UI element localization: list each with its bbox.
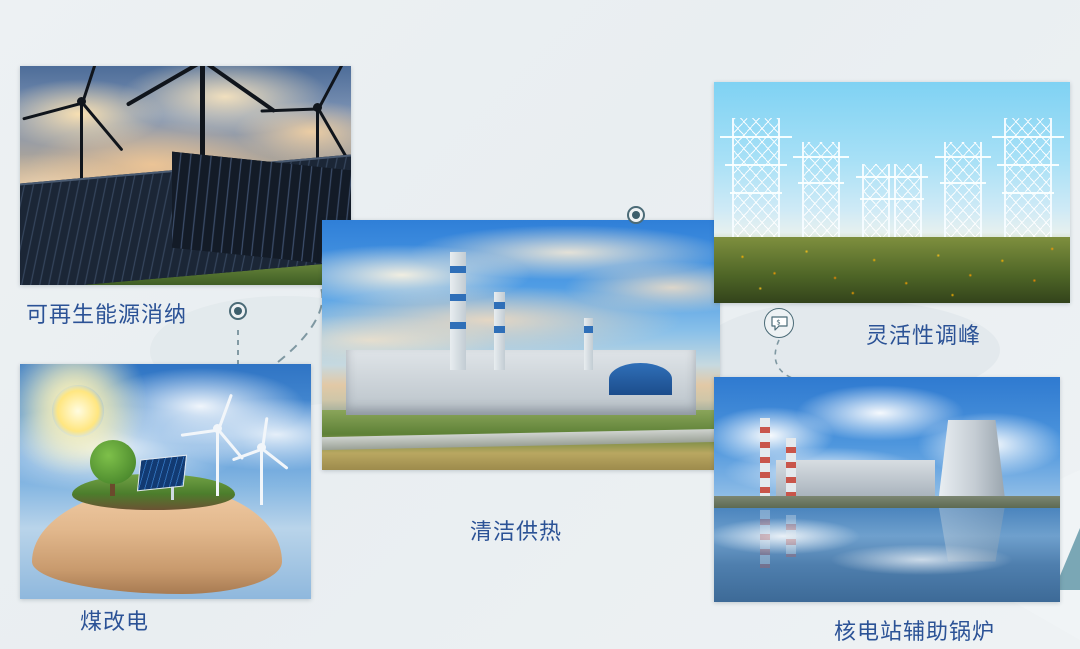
pylon-crossarm	[997, 164, 1059, 166]
transmission-pylon	[802, 142, 840, 246]
pylon-crossarm	[992, 136, 1064, 138]
chimney-stack	[584, 318, 593, 370]
plant-chimney-reflection	[786, 515, 796, 557]
photo-coal-to-electricity[interactable]	[20, 364, 311, 599]
plant-chimney-reflection	[760, 510, 770, 568]
photo-transmission-towers[interactable]	[714, 82, 1070, 303]
pylon-crossarm	[793, 156, 849, 158]
power-plant-dome	[609, 363, 673, 396]
cooling-tower-reflection	[939, 508, 1005, 562]
transmission-pylon	[862, 164, 890, 246]
solar-panel	[137, 454, 187, 491]
pylon-crossarm	[725, 164, 787, 166]
photo-towers-flower-field	[714, 237, 1070, 303]
pylon-crossarm	[860, 198, 892, 200]
svg-text:$: $	[776, 318, 780, 326]
photo-nuclear-plant[interactable]	[714, 377, 1060, 602]
cooling-tower	[939, 420, 1005, 497]
pylon-crossarm	[935, 156, 991, 158]
tree-canopy	[90, 440, 136, 484]
transmission-pylon	[894, 164, 922, 246]
marker-dot-left[interactable]	[229, 302, 247, 320]
chimney-stack	[494, 292, 505, 370]
caption-flexible-peak-shaving: 灵活性调峰	[866, 318, 981, 350]
pylon-crossarm	[888, 176, 928, 178]
sun-icon	[52, 385, 104, 437]
wind-turbine	[216, 428, 219, 496]
transmission-pylon	[732, 118, 780, 246]
pylon-crossarm	[892, 198, 924, 200]
turbine-hall	[776, 460, 935, 496]
transmission-pylon	[1004, 118, 1052, 246]
chimney-stack	[450, 252, 466, 370]
pylon-crossarm	[720, 136, 792, 138]
photo-renewable-energy[interactable]	[20, 66, 351, 285]
infographic-slide: $ 可再生能源消纳 清洁供热 灵活性调峰 核电站辅助锅炉 煤改电	[0, 0, 1080, 649]
caption-clean-heating: 清洁供热	[470, 514, 562, 546]
wind-turbine	[260, 447, 263, 505]
caption-renewable-energy: 可再生能源消纳	[26, 297, 187, 329]
pylon-crossarm	[798, 182, 844, 184]
plant-chimney	[760, 418, 770, 496]
money-speech-bubble-icon: $	[771, 316, 788, 331]
plant-chimney	[786, 438, 796, 496]
pylon-crossarm	[730, 192, 782, 194]
marker-dot-top[interactable]	[627, 206, 645, 224]
pylon-crossarm	[1002, 192, 1054, 194]
caption-coal-to-electricity: 煤改电	[80, 604, 149, 636]
transmission-pylon	[944, 142, 982, 246]
pylon-crossarm	[940, 182, 986, 184]
money-bubble-marker[interactable]: $	[764, 308, 794, 338]
photo-clean-heating[interactable]	[322, 220, 720, 470]
caption-nuclear-auxiliary-boiler: 核电站辅助锅炉	[834, 614, 995, 646]
photo-nuclear-shore	[714, 496, 1060, 507]
